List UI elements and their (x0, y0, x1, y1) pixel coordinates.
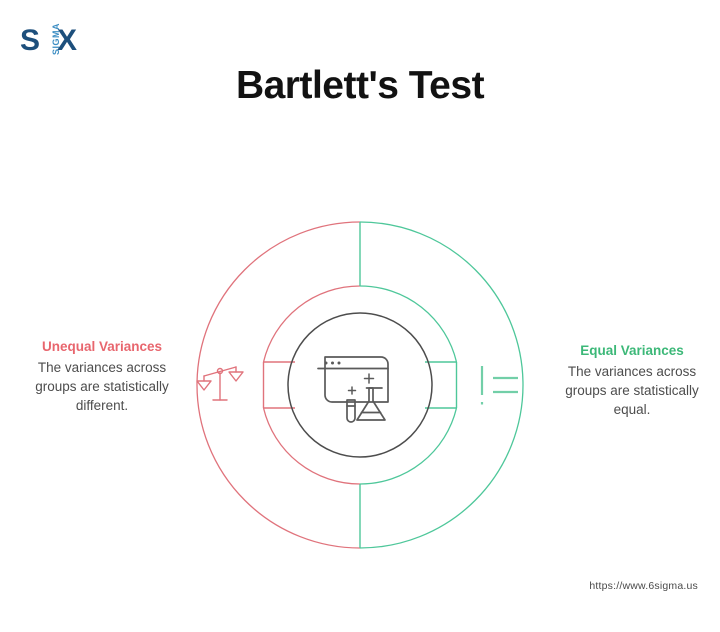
middle-ring-left-upper-arc (264, 286, 361, 362)
equal-variances-branch: Equal Variances The variances across gro… (552, 342, 712, 419)
unbalanced-scales-icon (197, 367, 243, 400)
equal-variances-heading: Equal Variances (552, 342, 712, 360)
unequal-variances-description: The variances across groups are statisti… (22, 358, 182, 415)
unequal-variances-branch: Unequal Variances The variances across g… (22, 338, 182, 415)
footer-website-url[interactable]: https://www.6sigma.us (589, 580, 698, 592)
diagram-svg (180, 205, 540, 580)
middle-ring-left-lower-arc (264, 408, 361, 484)
infographic-canvas: { "brand": { "logo_main_first": "S", "lo… (0, 0, 720, 632)
outer-ring-left-half (197, 222, 360, 548)
not-equal-sign-icon (482, 366, 518, 405)
unequal-variances-heading: Unequal Variances (22, 338, 182, 356)
browser-window-with-flask-icon (318, 357, 388, 422)
logo-letter-s: S (20, 26, 40, 56)
inner-circle (288, 313, 432, 457)
bartletts-test-diagram (180, 205, 540, 580)
equal-variances-description: The variances across groups are statisti… (552, 362, 712, 419)
middle-ring-right-upper-arc (360, 286, 457, 362)
six-sigma-logo[interactable]: S SIGMA X (20, 24, 100, 58)
logo-letter-x: X (57, 26, 77, 56)
page-title: Bartlett's Test (0, 64, 720, 108)
outer-ring-right-half (360, 222, 523, 548)
